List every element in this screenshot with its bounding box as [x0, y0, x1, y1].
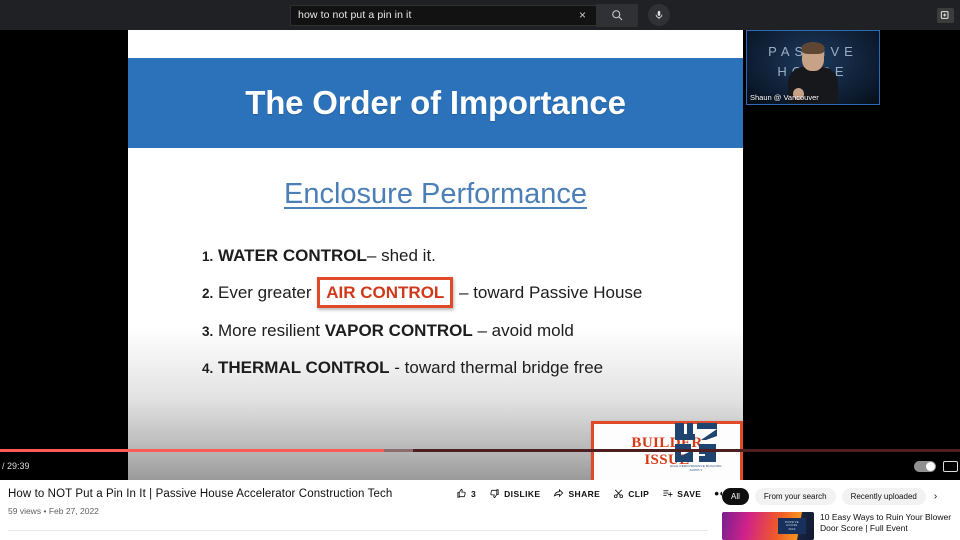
recommended-video-item[interactable]: PASSIVE HOUSE 2022 10 Easy Ways to Ruin …: [722, 512, 960, 540]
youtube-watch-page: how to not put a pin in it ×: [0, 0, 960, 540]
list-item-number: 3.: [202, 324, 213, 339]
save-icon: [662, 488, 673, 499]
webcam-name-label: Shaun @ Vancouver: [750, 93, 819, 102]
dislike-button[interactable]: DISLIKE: [489, 488, 540, 499]
autoplay-toggle-knob: [926, 462, 935, 471]
voice-search-button[interactable]: [648, 4, 670, 26]
new-tab-icon: [940, 10, 951, 20]
recommendations-sidebar: All From your search Recently uploaded ›…: [722, 488, 960, 540]
slide-list-item: 3. More resilient VAPOR CONTROL – avoid …: [202, 320, 721, 341]
search-icon: [611, 9, 623, 21]
like-button[interactable]: 3: [456, 488, 476, 499]
microphone-icon: [654, 10, 664, 20]
filter-chip-bar: All From your search Recently uploaded ›: [722, 488, 960, 505]
share-label: SHARE: [568, 489, 600, 499]
list-item-number: 4.: [202, 361, 213, 376]
stats-separator: •: [43, 506, 46, 516]
list-item-suffix: - toward thermal bridge free: [390, 358, 604, 377]
dislike-label: DISLIKE: [504, 489, 540, 499]
slide-list-item: 1. WATER CONTROL– shed it.: [202, 245, 721, 266]
webcam-overlay: PASSIVE HOUSE Shaun @ Vancouver: [746, 30, 880, 105]
list-item-strong: WATER CONTROL: [218, 246, 367, 265]
publish-date: Feb 27, 2022: [49, 506, 99, 516]
top-bar-right-controls: [937, 0, 954, 30]
player-control-bar: / 29:39: [0, 452, 960, 480]
clear-search-icon[interactable]: ×: [576, 9, 589, 21]
list-item-strong: THERMAL CONTROL: [218, 358, 390, 377]
share-icon: [553, 488, 564, 499]
search-input[interactable]: how to not put a pin in it ×: [290, 5, 596, 26]
time-display: / 29:39: [2, 461, 30, 471]
recommended-thumbnail: PASSIVE HOUSE 2022: [722, 512, 814, 540]
thumbs-up-icon: [456, 488, 467, 499]
video-stats: 59 views • Feb 27, 2022: [8, 506, 708, 516]
video-player[interactable]: The Order of Importance Enclosure Perfor…: [0, 30, 960, 480]
slide-top-strip: [128, 30, 743, 58]
autoplay-toggle[interactable]: [914, 461, 936, 472]
list-item-suffix: – shed it.: [367, 246, 436, 265]
video-action-bar: 3 DISLIKE SHARE CLIP: [456, 487, 731, 500]
slide-heading: Enclosure Performance: [150, 178, 721, 211]
presentation-slide: The Order of Importance Enclosure Perfor…: [128, 30, 743, 480]
list-item-number: 2.: [202, 286, 213, 301]
chip-recently-uploaded[interactable]: Recently uploaded: [842, 488, 926, 505]
slide-banner-title: The Order of Importance: [245, 84, 625, 122]
thumbnail-logo: PASSIVE HOUSE 2022: [778, 518, 806, 534]
thumbs-down-icon: [489, 488, 500, 499]
slide-banner: The Order of Importance: [128, 58, 743, 148]
presenter-hair: [802, 42, 825, 54]
list-item-suffix: – avoid mold: [473, 321, 574, 340]
new-tab-button[interactable]: [937, 8, 954, 23]
slide-body: Enclosure Performance 1. WATER CONTROL– …: [128, 178, 743, 378]
thumbnail-logo-line-3: 2022: [788, 528, 795, 532]
search-input-value: how to not put a pin in it: [298, 9, 576, 21]
chevron-right-icon[interactable]: ›: [932, 491, 937, 502]
like-count: 3: [471, 489, 476, 499]
section-divider: [8, 530, 708, 531]
save-button[interactable]: SAVE: [662, 488, 701, 499]
list-item-prefix: Ever greater: [218, 283, 316, 302]
chip-from-your-search[interactable]: From your search: [755, 488, 836, 505]
list-item-suffix: – toward Passive House: [454, 283, 642, 302]
search-bar: how to not put a pin in it ×: [290, 4, 670, 27]
slide-list-item: 2. Ever greater AIR CONTROL – toward Pas…: [202, 282, 721, 303]
share-button[interactable]: SHARE: [553, 488, 600, 499]
browser-top-bar: how to not put a pin in it ×: [0, 0, 960, 30]
air-control-highlight-box: AIR CONTROL: [317, 277, 453, 308]
list-item-strong: VAPOR CONTROL: [325, 321, 473, 340]
player-right-controls: [914, 452, 958, 480]
slide-list-item: 4. THERMAL CONTROL - toward thermal brid…: [202, 357, 721, 378]
search-button[interactable]: [596, 4, 638, 27]
view-count: 59 views: [8, 506, 41, 516]
subtitles-button[interactable]: [943, 461, 958, 472]
clip-icon: [613, 488, 624, 499]
list-item-prefix: More resilient: [218, 321, 325, 340]
clip-button[interactable]: CLIP: [613, 488, 649, 499]
save-label: SAVE: [677, 489, 701, 499]
list-item-number: 1.: [202, 249, 213, 264]
recommended-video-title: 10 Easy Ways to Ruin Your Blower Door Sc…: [820, 512, 960, 540]
chip-all[interactable]: All: [722, 488, 749, 505]
clip-label: CLIP: [628, 489, 649, 499]
slide-bullet-list: 1. WATER CONTROL– shed it. 2. Ever great…: [150, 245, 721, 378]
